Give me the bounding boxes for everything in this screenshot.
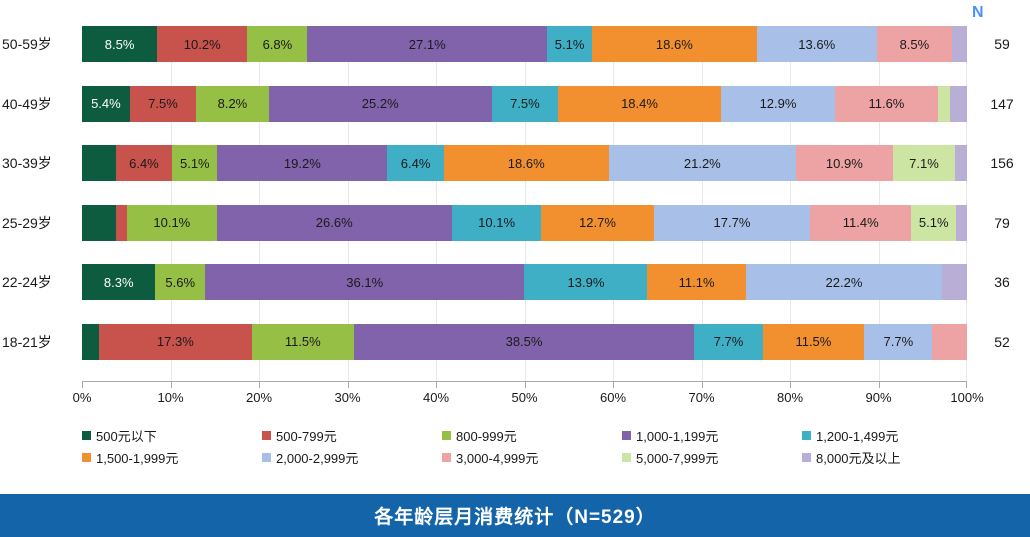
bar-segment[interactable]: 7.7% — [864, 324, 932, 360]
bar-segment[interactable]: 27.1% — [307, 26, 547, 62]
bar-segment[interactable]: 38.5% — [354, 324, 695, 360]
axis-tick-label: 90% — [865, 390, 891, 405]
axis-tick — [171, 382, 172, 388]
axis-tick — [436, 382, 437, 388]
n-column-header: N — [972, 4, 1028, 22]
legend-item[interactable]: 8,000元及以上 — [802, 446, 982, 468]
legend-label: 2,000-2,999元 — [276, 448, 358, 467]
bar-row: 22-24岁8.3%5.6%36.1%13.9%11.1%22.2%36 — [82, 264, 967, 300]
bar-row-label: 50-59岁 — [2, 26, 76, 62]
legend-item[interactable]: 3,000-4,999元 — [442, 446, 622, 468]
axis-tick — [790, 382, 791, 388]
bar-segment[interactable]: 7.7% — [694, 324, 762, 360]
stacked-bar: 8.5%10.2%6.8%27.1%5.1%18.6%13.6%8.5% — [82, 26, 967, 62]
axis-tick — [82, 382, 83, 388]
bar-segment[interactable]: 8.5% — [82, 26, 157, 62]
bar-segment[interactable] — [116, 205, 128, 241]
bar-segment[interactable] — [82, 145, 116, 181]
bar-segment[interactable] — [82, 324, 99, 360]
legend-swatch-icon — [82, 431, 91, 440]
bar-segment[interactable]: 10.9% — [796, 145, 892, 181]
bar-segment[interactable]: 6.4% — [116, 145, 173, 181]
bar-segment[interactable]: 10.1% — [452, 205, 541, 241]
chart-area: N 50-59岁8.5%10.2%6.8%27.1%5.1%18.6%13.6%… — [0, 0, 1030, 489]
axis-tick — [879, 382, 880, 388]
bar-row-label: 30-39岁 — [2, 145, 76, 181]
bar-segment[interactable]: 11.5% — [763, 324, 865, 360]
bar-row-label: 18-21岁 — [2, 324, 76, 360]
bar-segment[interactable]: 22.2% — [746, 264, 942, 300]
bar-segment[interactable]: 6.4% — [387, 145, 444, 181]
row-count-value: 52 — [972, 324, 1030, 360]
legend-item[interactable]: 800-999元 — [442, 424, 622, 446]
bar-segment[interactable]: 25.2% — [269, 86, 492, 122]
bar-segment[interactable]: 5.4% — [82, 86, 130, 122]
bar-segment[interactable]: 8.2% — [196, 86, 269, 122]
chart-legend: 500元以下500-799元800-999元1,000-1,199元1,200-… — [82, 424, 982, 468]
bar-segment[interactable]: 36.1% — [205, 264, 524, 300]
legend-item[interactable]: 1,200-1,499元 — [802, 424, 982, 446]
bar-segment[interactable]: 6.8% — [247, 26, 307, 62]
legend-swatch-icon — [442, 453, 451, 462]
bar-segment[interactable]: 18.4% — [558, 86, 721, 122]
legend-item[interactable]: 500-799元 — [262, 424, 442, 446]
legend-label: 3,000-4,999元 — [456, 448, 538, 467]
chart-title: 各年龄层月消费统计（N=529） — [374, 502, 656, 529]
axis-tick — [525, 382, 526, 388]
bar-segment[interactable]: 8.3% — [82, 264, 155, 300]
bar-segment[interactable]: 26.6% — [217, 205, 452, 241]
legend-swatch-icon — [262, 431, 271, 440]
bar-segment[interactable] — [932, 324, 967, 360]
row-count-value: 36 — [972, 264, 1030, 300]
axis-tick-label: 30% — [334, 390, 360, 405]
stacked-bar: 8.3%5.6%36.1%13.9%11.1%22.2% — [82, 264, 967, 300]
bar-row: 30-39岁6.4%5.1%19.2%6.4%18.6%21.2%10.9%7.… — [82, 145, 967, 181]
bar-segment[interactable]: 11.4% — [810, 205, 911, 241]
bar-segment[interactable] — [82, 205, 116, 241]
bar-segment[interactable]: 5.1% — [172, 145, 217, 181]
bar-segment[interactable] — [938, 86, 950, 122]
legend-item[interactable]: 500元以下 — [82, 424, 262, 446]
x-axis: 0%10%20%30%40%50%60%70%80%90%100% — [82, 381, 967, 390]
bar-segment[interactable]: 7.1% — [893, 145, 956, 181]
bar-row-label: 25-29岁 — [2, 205, 76, 241]
bar-segment[interactable]: 11.6% — [835, 86, 938, 122]
legend-swatch-icon — [262, 453, 271, 462]
axis-tick — [259, 382, 260, 388]
axis-tick — [702, 382, 703, 388]
stacked-bar: 10.1%26.6%10.1%12.7%17.7%11.4%5.1% — [82, 205, 967, 241]
bar-row: 40-49岁5.4%7.5%8.2%25.2%7.5%18.4%12.9%11.… — [82, 86, 967, 122]
legend-label: 800-999元 — [456, 426, 517, 445]
legend-swatch-icon — [82, 453, 91, 462]
title-bar: 各年龄层月消费统计（N=529） — [0, 494, 1030, 537]
bar-segment[interactable]: 7.5% — [492, 86, 558, 122]
bar-segment[interactable]: 13.6% — [757, 26, 877, 62]
legend-swatch-icon — [802, 453, 811, 462]
bar-segment[interactable] — [942, 264, 967, 300]
bar-segment[interactable]: 12.9% — [721, 86, 835, 122]
legend-swatch-icon — [442, 431, 451, 440]
bar-segment[interactable]: 19.2% — [217, 145, 387, 181]
axis-tick — [613, 382, 614, 388]
bar-segment[interactable]: 10.2% — [157, 26, 247, 62]
legend-label: 500元以下 — [96, 426, 157, 445]
legend-label: 5,000-7,999元 — [636, 448, 718, 467]
bar-segment[interactable] — [956, 205, 967, 241]
axis-tick-label: 20% — [246, 390, 272, 405]
stacked-bar-plot: 50-59岁8.5%10.2%6.8%27.1%5.1%18.6%13.6%8.… — [82, 26, 967, 381]
bar-segment[interactable]: 11.5% — [252, 324, 354, 360]
bar-segment[interactable]: 13.9% — [524, 264, 647, 300]
legend-item[interactable]: 5,000-7,999元 — [622, 446, 802, 468]
bar-segment[interactable]: 18.6% — [444, 145, 609, 181]
bar-row: 18-21岁17.3%11.5%38.5%7.7%11.5%7.7%52 — [82, 324, 967, 360]
legend-label: 1,500-1,999元 — [96, 448, 178, 467]
bar-segment[interactable]: 5.6% — [155, 264, 205, 300]
axis-tick-label: 80% — [777, 390, 803, 405]
legend-swatch-icon — [802, 431, 811, 440]
bar-row-label: 22-24岁 — [2, 264, 76, 300]
legend-item[interactable]: 1,500-1,999元 — [82, 446, 262, 468]
legend-swatch-icon — [622, 431, 631, 440]
bar-segment[interactable]: 5.1% — [547, 26, 592, 62]
legend-item[interactable]: 2,000-2,999元 — [262, 446, 442, 468]
bar-segment[interactable]: 21.2% — [609, 145, 797, 181]
bar-segment[interactable] — [955, 145, 967, 181]
row-count-value: 147 — [972, 86, 1030, 122]
legend-label: 1,000-1,199元 — [636, 426, 718, 445]
axis-tick — [348, 382, 349, 388]
bar-segment[interactable]: 17.7% — [654, 205, 811, 241]
axis-tick-label: 60% — [600, 390, 626, 405]
bar-segment[interactable]: 10.1% — [127, 205, 216, 241]
axis-tick-label: 0% — [73, 390, 92, 405]
row-count-value: 59 — [972, 26, 1030, 62]
legend-label: 8,000元及以上 — [816, 448, 901, 467]
axis-tick-label: 70% — [688, 390, 714, 405]
bar-row-label: 40-49岁 — [2, 86, 76, 122]
bar-segment[interactable] — [952, 26, 967, 62]
legend-swatch-icon — [622, 453, 631, 462]
axis-tick — [966, 382, 967, 388]
bar-segment[interactable]: 12.7% — [541, 205, 653, 241]
stacked-bar: 5.4%7.5%8.2%25.2%7.5%18.4%12.9%11.6% — [82, 86, 967, 122]
axis-tick-label: 100% — [950, 390, 983, 405]
bar-segment[interactable]: 8.5% — [877, 26, 952, 62]
bar-segment[interactable]: 11.1% — [647, 264, 745, 300]
legend-label: 1,200-1,499元 — [816, 426, 898, 445]
axis-tick-label: 40% — [423, 390, 449, 405]
axis-tick-label: 10% — [157, 390, 183, 405]
bar-segment[interactable]: 18.6% — [592, 26, 756, 62]
bar-segment[interactable]: 5.1% — [911, 205, 956, 241]
row-count-value: 156 — [972, 145, 1030, 181]
bar-segment[interactable]: 17.3% — [99, 324, 252, 360]
stacked-bar: 17.3%11.5%38.5%7.7%11.5%7.7% — [82, 324, 967, 360]
bar-segment[interactable] — [950, 86, 967, 122]
legend-label: 500-799元 — [276, 426, 337, 445]
stacked-bar: 6.4%5.1%19.2%6.4%18.6%21.2%10.9%7.1% — [82, 145, 967, 181]
bar-row: 50-59岁8.5%10.2%6.8%27.1%5.1%18.6%13.6%8.… — [82, 26, 967, 62]
legend-item[interactable]: 1,000-1,199元 — [622, 424, 802, 446]
row-count-value: 79 — [972, 205, 1030, 241]
axis-tick-label: 50% — [511, 390, 537, 405]
bar-row: 25-29岁10.1%26.6%10.1%12.7%17.7%11.4%5.1%… — [82, 205, 967, 241]
bar-segment[interactable]: 7.5% — [130, 86, 196, 122]
